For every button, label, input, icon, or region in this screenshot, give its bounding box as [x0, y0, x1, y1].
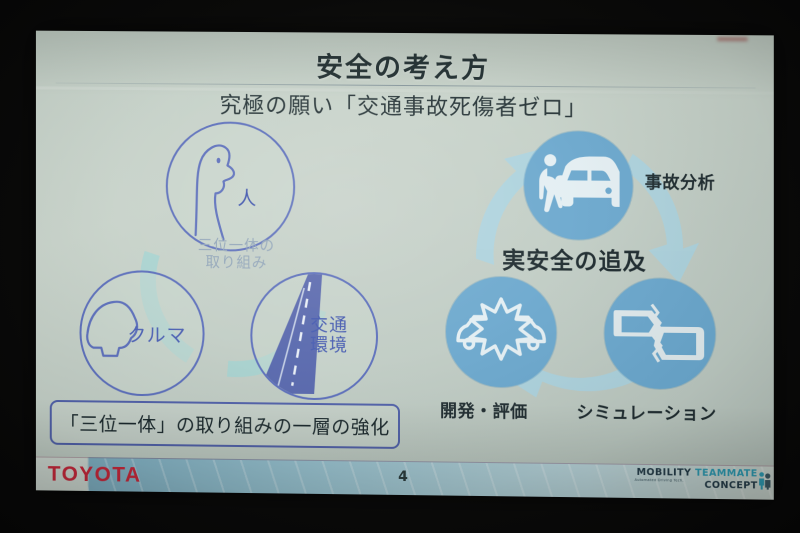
person-profile-icon [168, 123, 287, 244]
cycle-node-accident-analysis [524, 131, 633, 240]
logo-tagline: Automated Driving Tech. [635, 479, 684, 483]
cycle-label-development-evaluation: 開発・評価 [440, 396, 528, 422]
slide-subtitle: 究極の願い「交通事故死傷者ゼロ」 [36, 86, 774, 123]
mobility-teammate-concept-logo: MOBILITY TEAMMATE CONCEPT Automated Driv… [637, 468, 758, 491]
logo-word-teammate: TEAMMATE [695, 468, 758, 480]
trinity-label-environment: 交通環境 [310, 316, 348, 356]
trinity-center-note: 三位一体の取り組み [157, 238, 316, 273]
trinity-diagram: 人 クルマ 交通環境 三位一体の取 [72, 125, 400, 408]
emphasis-banner: 「三位一体」の取り組みの一層の強化 [50, 400, 400, 449]
cycle-node-simulation [605, 278, 716, 390]
pursuit-cycle-diagram: 事故分析 開発・評価 シミュレーション 実安全の追及 [432, 128, 764, 432]
trinity-label-car: クルマ [127, 320, 186, 348]
cycle-node-development-evaluation [446, 276, 556, 387]
screen-edge-artifact [717, 37, 747, 41]
trinity-node-person: 人 [166, 121, 295, 252]
logo-word-mobility: MOBILITY [637, 467, 692, 479]
teammate-figures-icon [759, 471, 771, 489]
projection-screen: 安全の考え方 究極の願い「交通事故死傷者ゼロ」 人 [36, 31, 774, 500]
trinity-node-environment: 交通環境 [250, 272, 378, 401]
accident-analysis-icon [537, 150, 619, 221]
cycle-label-simulation: シミュレーション [576, 398, 716, 425]
trinity-label-person: 人 [237, 183, 257, 210]
cycle-center-text: 実安全の追及 [454, 240, 695, 276]
crash-simulation-icon [614, 296, 707, 371]
crash-test-icon [454, 297, 548, 368]
projector-photo: 安全の考え方 究極の願い「交通事故死傷者ゼロ」 人 [0, 0, 800, 533]
slide-title: 安全の考え方 [36, 44, 774, 88]
cycle-label-accident-analysis: 事故分析 [645, 168, 716, 194]
slide-footer: TOYOTA 4 MOBILITY TEAMMATE CONCEPT Autom… [36, 456, 774, 499]
trinity-node-car: クルマ [80, 270, 205, 397]
